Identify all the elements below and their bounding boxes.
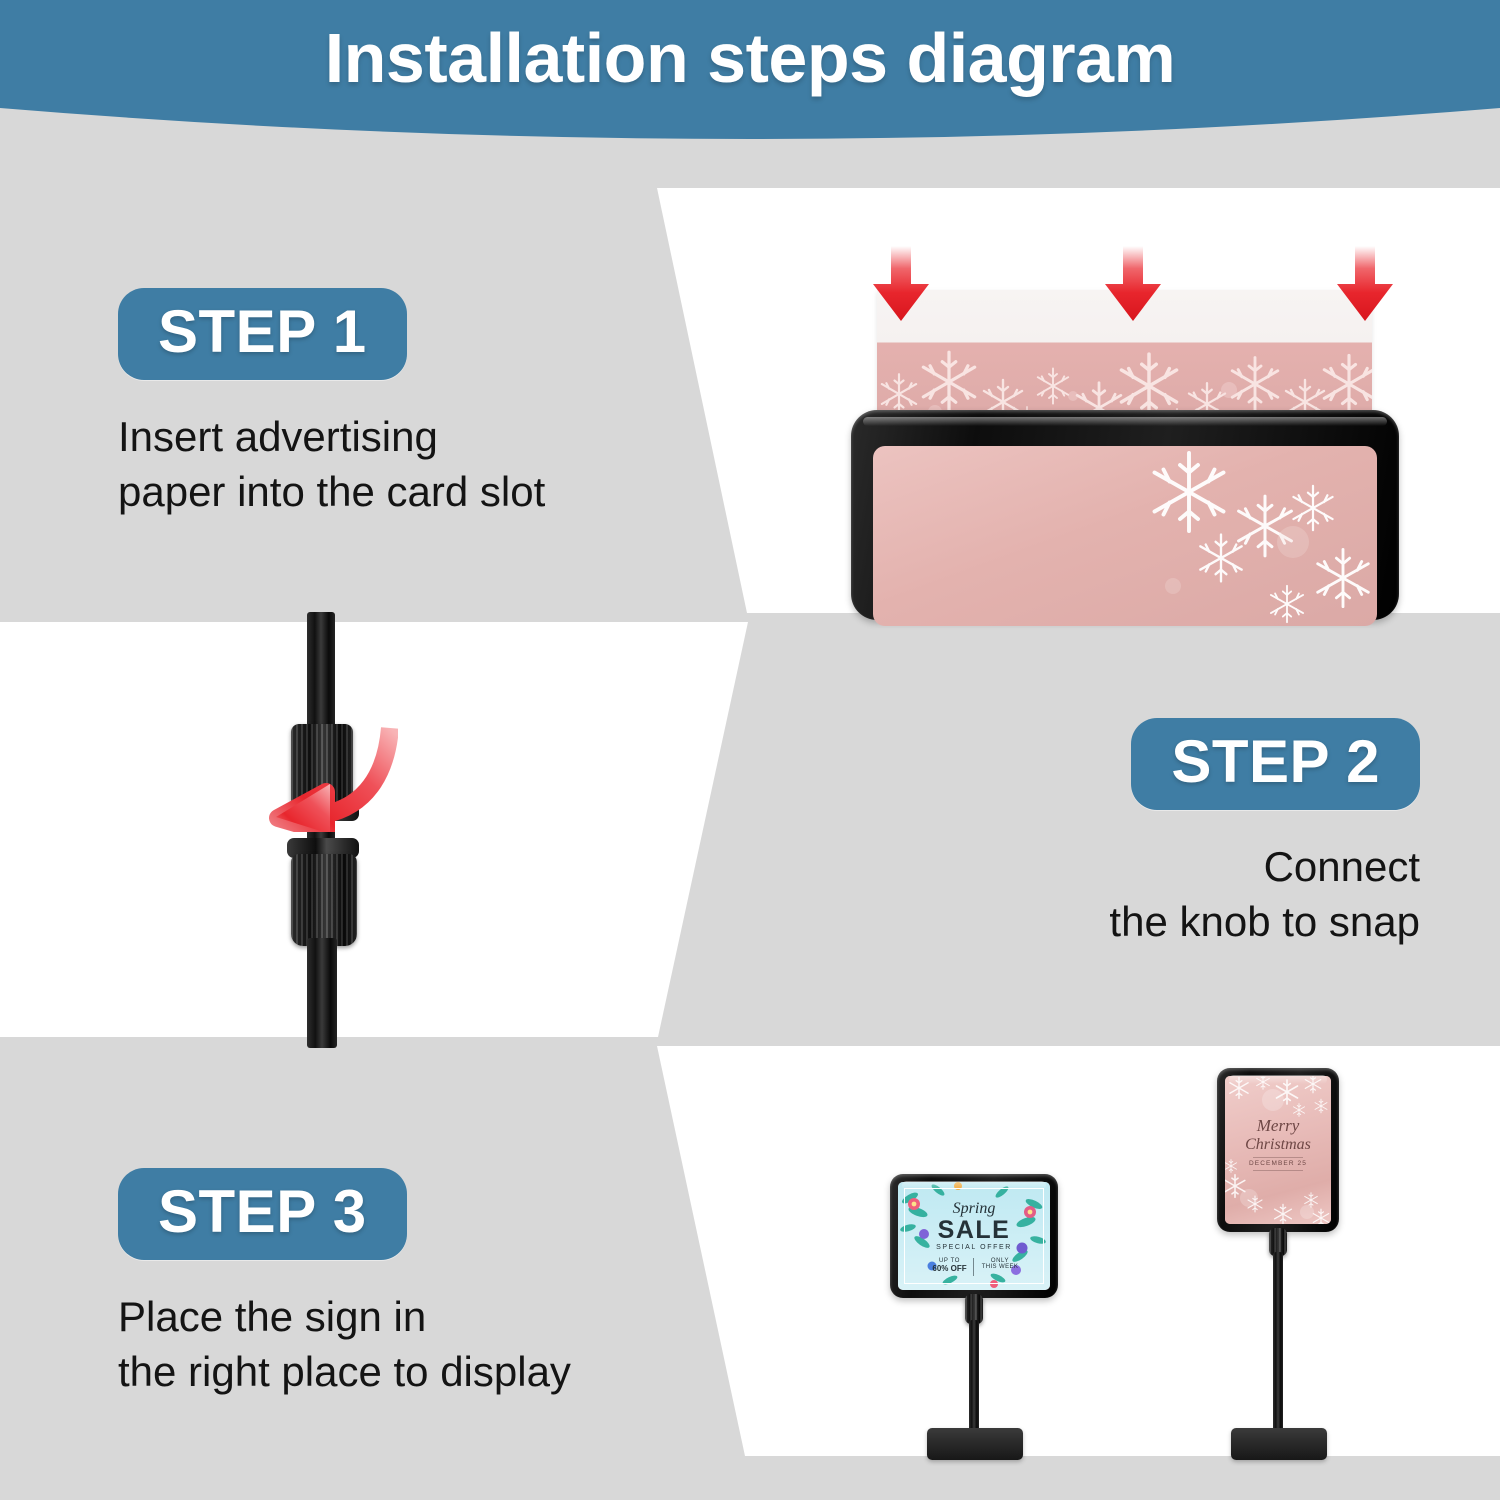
lower-twist-knob	[291, 854, 357, 946]
diagram-canvas: Installation steps diagram STEP 1 Insert…	[0, 0, 1500, 1500]
offer-right-bottom: THIS WEEK	[976, 1264, 1024, 1270]
step-2-caption: Connect the knob to snap	[1020, 840, 1420, 949]
lower-pole	[307, 938, 337, 1048]
left-sign-glass: Spring SALE SPECIAL OFFER UP TO 60% OFF …	[898, 1182, 1050, 1290]
step-3-text-block: STEP 3 Place the sign in the right place…	[118, 1168, 571, 1399]
spring-sale-poster: Spring SALE SPECIAL OFFER UP TO 60% OFF …	[898, 1182, 1050, 1290]
step-3-badge: STEP 3	[118, 1168, 407, 1260]
step-1-badge: STEP 1	[118, 288, 407, 380]
rotate-knob-arrow-icon	[258, 722, 398, 832]
snowflake-pattern-frame	[873, 446, 1377, 626]
step-1-caption: Insert advertising paper into the card s…	[118, 410, 545, 519]
right-sign-frame: Merry Christmas DECEMBER 25	[1217, 1068, 1339, 1232]
offer-left-bottom: 60% OFF	[928, 1264, 971, 1273]
step-2-text-block: STEP 2 Connect the knob to snap	[1020, 718, 1420, 949]
step-1-illustration-panel	[655, 188, 1500, 613]
page-title: Installation steps diagram	[0, 18, 1500, 98]
right-stand-pole	[1273, 1252, 1283, 1438]
step-2-illustration-panel	[0, 622, 750, 1037]
insert-arrow-icon-2	[1099, 246, 1167, 322]
frame-glass	[873, 446, 1377, 626]
insert-arrow-icon-3	[1331, 246, 1399, 322]
insert-arrow-icon-1	[867, 246, 935, 322]
merry-christmas-poster: Merry Christmas DECEMBER 25	[1225, 1076, 1331, 1224]
snap-poster-frame	[851, 410, 1399, 620]
step-1-artwork	[655, 188, 1500, 613]
sale-headline: SALE	[898, 1216, 1050, 1245]
step-3-artwork: Spring SALE SPECIAL OFFER UP TO 60% OFF …	[655, 1046, 1500, 1456]
page-header: Installation steps diagram	[0, 0, 1500, 150]
christmas-script: Christmas	[1225, 1136, 1331, 1154]
step-3-illustration-panel: Spring SALE SPECIAL OFFER UP TO 60% OFF …	[655, 1046, 1500, 1456]
left-sign-frame: Spring SALE SPECIAL OFFER UP TO 60% OFF …	[890, 1174, 1058, 1298]
step-3-caption: Place the sign in the right place to dis…	[118, 1290, 571, 1399]
step-1-text-block: STEP 1 Insert advertising paper into the…	[118, 288, 545, 519]
left-stand-pole	[969, 1320, 979, 1438]
merry-script: Merry	[1225, 1116, 1331, 1136]
christmas-date: DECEMBER 25	[1225, 1160, 1331, 1167]
right-stand-base	[1231, 1428, 1327, 1460]
step-2-badge: STEP 2	[1131, 718, 1420, 810]
date-rule-bottom	[1253, 1170, 1303, 1171]
sale-subhead: SPECIAL OFFER	[898, 1244, 1050, 1251]
offer-right: ONLY THIS WEEK	[976, 1258, 1024, 1270]
offer-left: UP TO 60% OFF	[928, 1258, 971, 1273]
right-sign-glass: Merry Christmas DECEMBER 25	[1225, 1076, 1331, 1224]
date-rule-top	[1253, 1157, 1303, 1158]
left-stand-base	[927, 1428, 1023, 1460]
step-2-artwork	[0, 622, 750, 1037]
offer-divider	[973, 1258, 974, 1276]
